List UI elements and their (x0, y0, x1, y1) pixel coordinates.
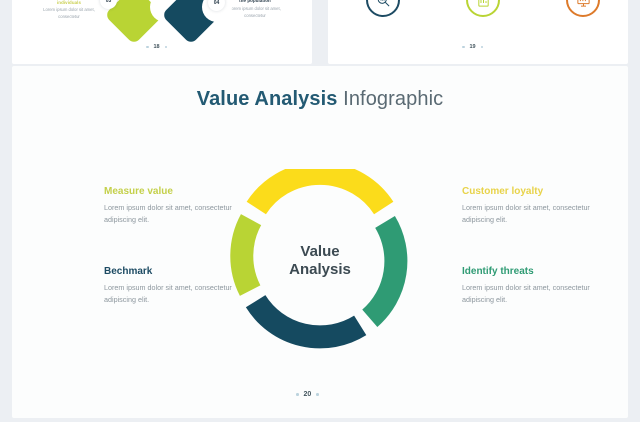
label-bechmark: Bechmark Lorem ipsum dolor sit amet, con… (104, 266, 254, 306)
page-title: Value Analysis Infographic (12, 88, 628, 111)
label-customer-loyalty: Customer loyalty Lorem ipsum dolor sit a… (462, 186, 612, 226)
label-identify-threats: Identify threats Lorem ipsum dolor sit a… (462, 266, 612, 306)
slide-thumbnails-strip: individuals Lorem ipsum dolor sit amet, … (0, 0, 640, 64)
slide18-page-number: 18 (146, 44, 167, 50)
label-measure-value-body: Lorem ipsum dolor sit amet, consectetur … (104, 202, 254, 226)
deck-preview: individuals Lorem ipsum dolor sit amet, … (0, 0, 640, 422)
slide19-page-number-value: 19 (470, 44, 476, 50)
page-dot-left (296, 393, 299, 396)
donut-segment-bechmark[interactable] (256, 301, 361, 337)
slide-thumbnail-18[interactable]: individuals Lorem ipsum dolor sit amet, … (12, 0, 312, 64)
label-customer-loyalty-body: Lorem ipsum dolor sit amet, consectetur … (462, 202, 612, 226)
donut-segment-identify-threats[interactable] (370, 222, 396, 318)
page-dot-left (462, 46, 465, 49)
page-dot-left (146, 46, 149, 49)
page-dot-right (481, 46, 484, 49)
slide18-page-number-value: 18 (154, 44, 160, 50)
label-measure-value: Measure value Lorem ipsum dolor sit amet… (104, 186, 254, 226)
donut-svg (228, 169, 412, 353)
label-bechmark-title: Bechmark (104, 266, 254, 277)
slide-thumbnail-19[interactable]: adipiscing elit adipiscing elit 19 (328, 0, 628, 64)
document-chart-icon (466, 0, 500, 17)
label-identify-threats-title: Identify threats (462, 266, 612, 277)
label-customer-loyalty-title: Customer loyalty (462, 186, 612, 197)
value-analysis-donut-chart: Value Analysis (228, 169, 412, 353)
label-measure-value-title: Measure value (104, 186, 254, 197)
label-identify-threats-body: Lorem ipsum dolor sit amet, consectetur … (462, 282, 612, 306)
page-dot-right (316, 393, 319, 396)
donut-segment-customer-loyalty[interactable] (256, 173, 383, 208)
slide20-page-number-value: 20 (304, 391, 312, 398)
magnifier-chart-icon (366, 0, 400, 17)
slide18-left-heading: individuals (34, 0, 104, 5)
page-title-regular: Infographic (343, 88, 443, 110)
slide18-left-body: Lorem ipsum dolor sit amet, consectetur (34, 7, 104, 20)
page-title-bold: Value Analysis (197, 88, 338, 110)
page-dot-right (165, 46, 168, 49)
presentation-icon (566, 0, 600, 17)
slide-20[interactable]: Value Analysis Infographic Value Analysi… (12, 66, 628, 418)
slide19-page-number: 19 (462, 44, 483, 50)
slide20-page-number: 20 (296, 391, 319, 398)
label-bechmark-body: Lorem ipsum dolor sit amet, consectetur … (104, 282, 254, 306)
